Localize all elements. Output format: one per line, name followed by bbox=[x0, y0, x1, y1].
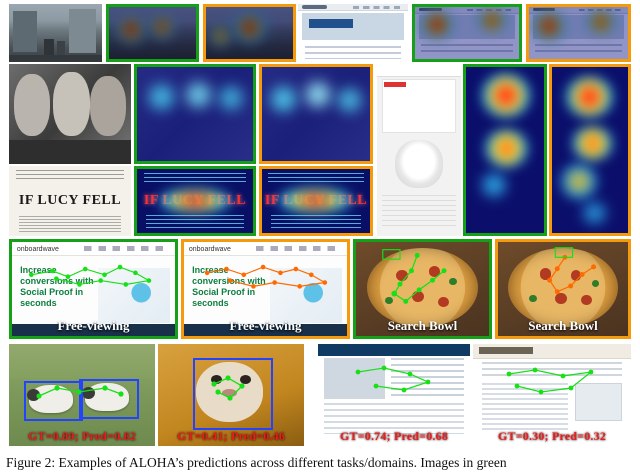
figure-caption: Figure 2: Examples of ALOHA’s prediction… bbox=[6, 455, 634, 471]
product-page-heatmap bbox=[463, 64, 547, 236]
news-webpage-scanpath: GT=0.74; Pred=0.68 bbox=[318, 344, 470, 446]
faces-heatmap-alt bbox=[259, 64, 373, 164]
sheep-scanpath: GT=0.89; Pred=0.82 bbox=[9, 344, 155, 446]
product-page-screenshot bbox=[377, 64, 461, 236]
task-label-free-viewing-green: Free-viewing bbox=[12, 318, 175, 334]
task-label-search-bowl-green: Search Bowl bbox=[356, 318, 489, 334]
onboarding-page-free-viewing-green: onboardwave Increase conversions with So… bbox=[9, 239, 178, 339]
prediction-label-hamster: GT=0.41; Pred=0.46 bbox=[158, 429, 304, 444]
webpage-heatmap-alt bbox=[526, 4, 631, 62]
webpage-screenshot bbox=[298, 4, 408, 62]
poster-title-heatmap-alt: IF LUCY FELL bbox=[262, 193, 370, 209]
street-scene-photo bbox=[9, 4, 102, 62]
figure-container: IF LUCY FELL IF LUCY FELL IF LUCY FELL o bbox=[0, 0, 640, 473]
pizza-search-bowl-green: Search Bowl bbox=[353, 239, 492, 339]
document-webpage-scanpath: GT=0.30; Pred=0.32 bbox=[473, 344, 631, 446]
movie-poster-photo: IF LUCY FELL bbox=[9, 166, 131, 236]
onboarding-page-free-viewing-orange: onboardwave Increase conversions with So… bbox=[181, 239, 350, 339]
prediction-label-sheep: GT=0.89; Pred=0.82 bbox=[9, 429, 155, 444]
movie-poster-heatmap: IF LUCY FELL bbox=[134, 166, 256, 236]
street-scene-heatmap-alt bbox=[203, 4, 296, 62]
movie-poster-heatmap-alt: IF LUCY FELL bbox=[259, 166, 373, 236]
webpage-heatmap bbox=[412, 4, 522, 62]
product-page-heatmap-alt bbox=[549, 64, 631, 236]
poster-title: IF LUCY FELL bbox=[9, 193, 131, 209]
prediction-label-document: GT=0.30; Pred=0.32 bbox=[473, 429, 631, 444]
faces-heatmap bbox=[134, 64, 256, 164]
hamster-scanpath: GT=0.41; Pred=0.46 bbox=[158, 344, 304, 446]
task-label-free-viewing-orange: Free-viewing bbox=[184, 318, 347, 334]
poster-title-heatmap: IF LUCY FELL bbox=[137, 193, 253, 209]
street-scene-heatmap bbox=[106, 4, 199, 62]
faces-photo bbox=[9, 64, 131, 164]
prediction-label-news: GT=0.74; Pred=0.68 bbox=[318, 429, 470, 444]
task-label-search-bowl-orange: Search Bowl bbox=[498, 318, 628, 334]
pizza-search-bowl-orange: Search Bowl bbox=[495, 239, 631, 339]
